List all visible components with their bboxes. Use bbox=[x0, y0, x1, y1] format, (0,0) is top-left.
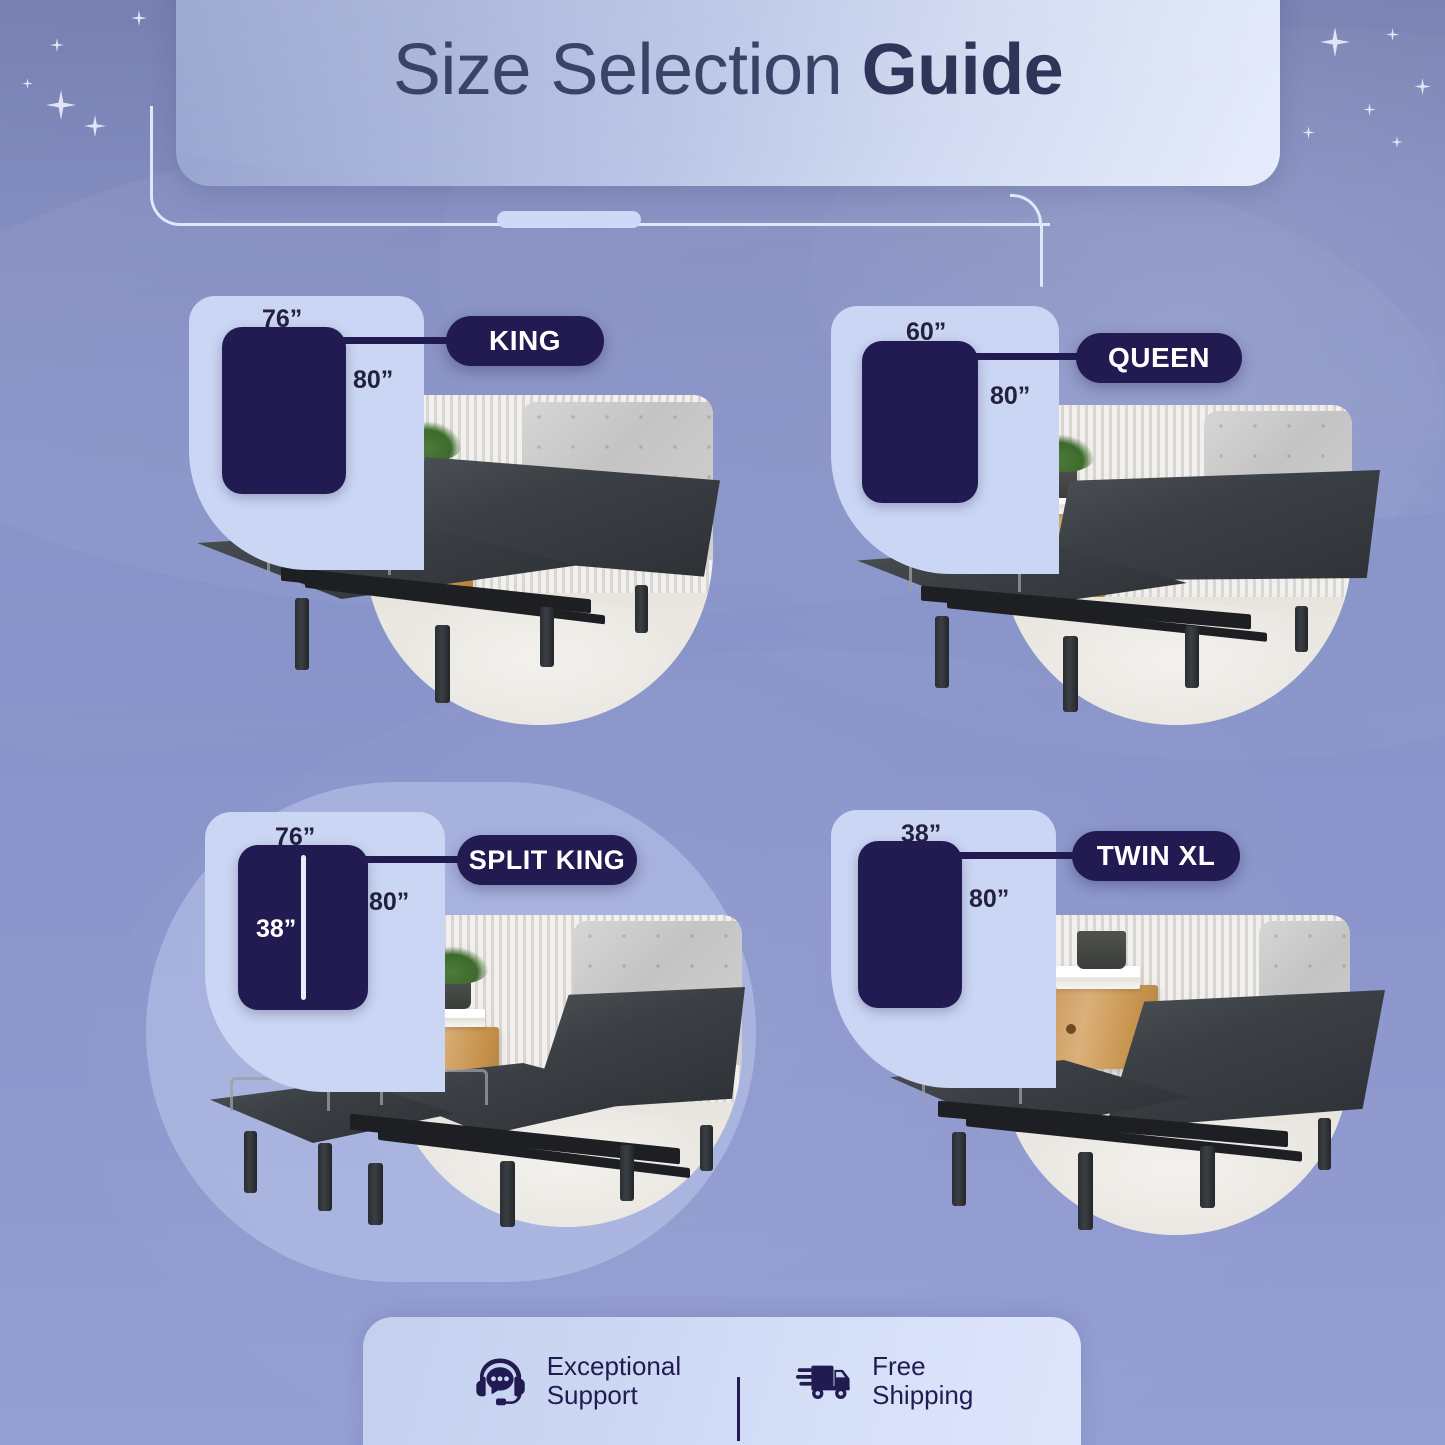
photo-books bbox=[1056, 966, 1140, 988]
footer-shipping-label: Free Shipping bbox=[872, 1352, 973, 1410]
footer-item-shipping: Free Shipping bbox=[796, 1352, 973, 1410]
footer-support-label: Exceptional Support bbox=[547, 1352, 681, 1410]
size-badge-twin-xl[interactable]: TWIN XL bbox=[1072, 831, 1240, 881]
photo-rug bbox=[1000, 1113, 1350, 1235]
footer-divider bbox=[737, 1377, 740, 1441]
badge-connector-twin-xl bbox=[956, 852, 1086, 859]
bed-leg bbox=[952, 1132, 966, 1206]
mattress-rect-twin-xl bbox=[858, 841, 962, 1008]
dim-height-twin-xl: 80” bbox=[969, 887, 1009, 912]
size-card-twin-xl: 38” 80” TWIN XL bbox=[0, 0, 1445, 1445]
footer-card: Exceptional Support Free bbox=[363, 1317, 1081, 1445]
footer-item-support: Exceptional Support bbox=[471, 1352, 681, 1410]
photo-headboard bbox=[1259, 921, 1350, 1075]
headset-chat-icon bbox=[471, 1355, 529, 1407]
infographic-page: Size Selection Guide bbox=[0, 0, 1445, 1445]
photo-nightstand bbox=[1046, 985, 1158, 1068]
delivery-truck-icon bbox=[796, 1355, 854, 1407]
photo-plant-pot bbox=[1077, 931, 1126, 969]
